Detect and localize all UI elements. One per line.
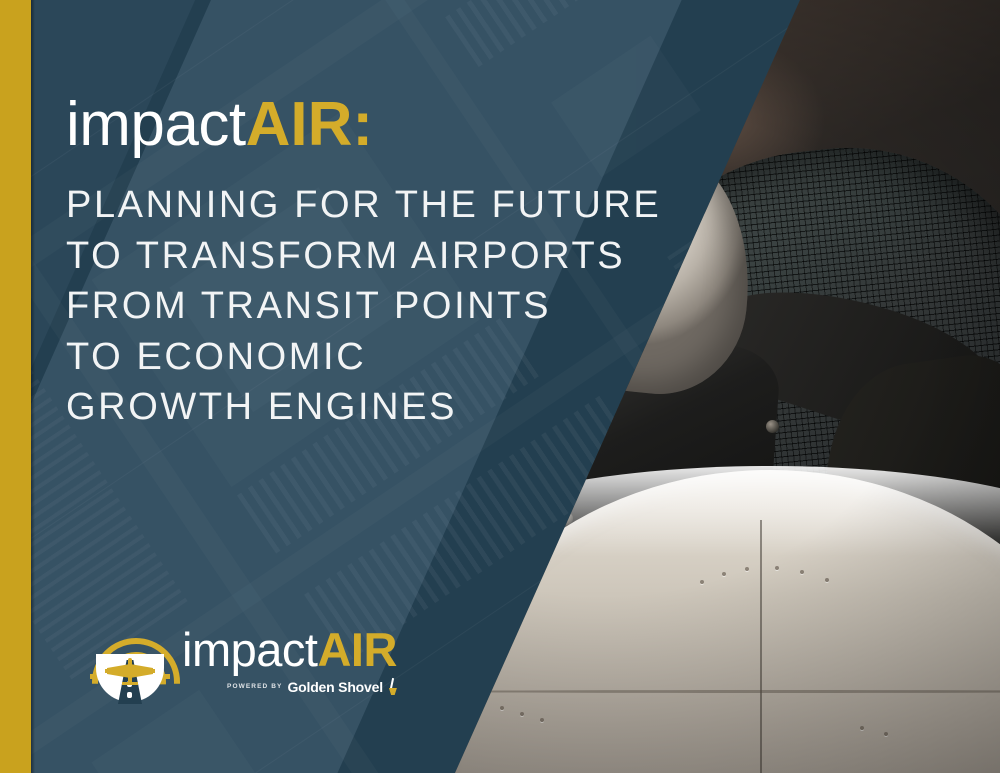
headline-line-5: GROWTH ENGINES	[66, 382, 661, 433]
airport-radar-runway-badge-icon	[88, 620, 172, 704]
headline-line-3: FROM TRANSIT POINTS	[66, 281, 661, 332]
impactair-wordmark: impactAIR POWERED BY Golden Shovel	[182, 626, 397, 695]
runway-dash	[127, 692, 132, 698]
wordmark-text: impactAIR	[182, 626, 397, 673]
headline-line-2: TO TRANSFORM AIRPORTS	[66, 231, 661, 282]
powered-by-label: POWERED BY	[227, 683, 282, 690]
footer-logo-lockup: impactAIR POWERED BY Golden Shovel	[88, 620, 397, 704]
report-cover-page: impactAIR: PLANNING FOR THE FUTURE TO TR…	[0, 0, 1000, 773]
cover-headline: PLANNING FOR THE FUTURE TO TRANSFORM AIR…	[66, 180, 661, 433]
shovel-handle	[390, 678, 394, 689]
wordmark-word-air: AIR	[317, 623, 396, 676]
shovel-icon	[388, 678, 397, 695]
golden-shovel-brand: Golden Shovel	[287, 679, 382, 695]
left-gold-spine	[0, 0, 31, 773]
cover-content: impactAIR: PLANNING FOR THE FUTURE TO TR…	[0, 0, 1000, 773]
wordmark-word-impact: impact	[182, 623, 317, 676]
brand-lockup: impactAIR:	[66, 94, 373, 156]
powered-by-lockup: POWERED BY Golden Shovel	[182, 678, 397, 695]
brand-word-air: AIR:	[246, 90, 373, 159]
headline-line-1: PLANNING FOR THE FUTURE	[66, 180, 661, 231]
shovel-blade	[389, 688, 397, 695]
spine-drop-shadow	[31, 0, 35, 773]
airplane-icon	[104, 656, 156, 686]
brand-word-impact: impact	[66, 90, 246, 159]
headline-line-4: TO ECONOMIC	[66, 332, 661, 383]
